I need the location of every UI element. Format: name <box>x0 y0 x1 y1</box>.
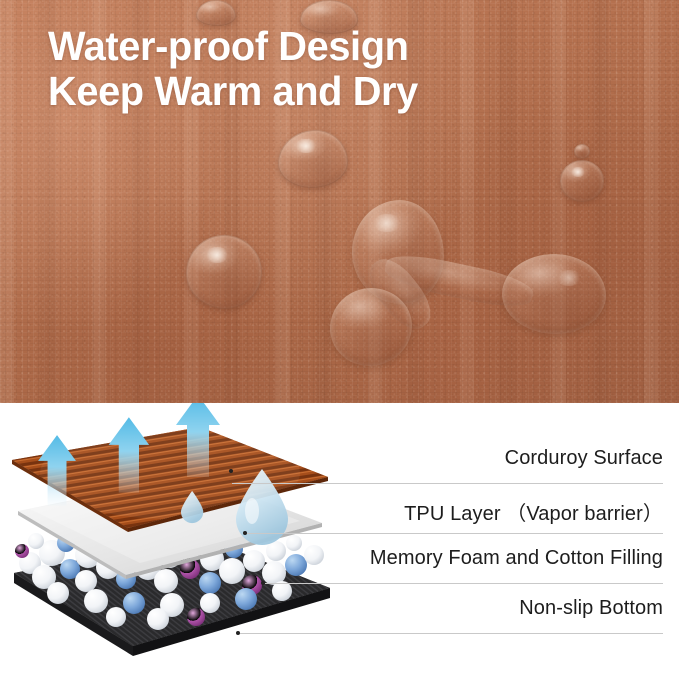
layer-label-foam: Memory Foam and Cotton Filling <box>370 547 663 573</box>
leader-dot-tpu <box>243 531 247 535</box>
layer-label-tpu: TPU Layer （Vapor barrier） <box>404 497 663 529</box>
layer-label-text: Non-slip Bottom <box>519 597 663 623</box>
leader-dot-foam <box>261 581 265 585</box>
layer-label-text: TPU Layer （Vapor barrier） <box>404 497 663 529</box>
leader-line-foam <box>265 583 663 584</box>
hero-photo-waterproof-fabric: Water-proof Design Keep Warm and Dry <box>0 0 679 403</box>
leader-line-bottom <box>240 633 663 634</box>
leader-dot-bottom <box>236 631 240 635</box>
product-infographic: Water-proof Design Keep Warm and Dry <box>0 0 679 678</box>
layer-label-text: Memory Foam and Cotton Filling <box>370 547 663 573</box>
headline-line-2: Keep Warm and Dry <box>48 69 591 114</box>
page-title: Water-proof Design Keep Warm and Dry <box>48 24 591 114</box>
layer-label-bottom: Non-slip Bottom <box>519 597 663 623</box>
merged-water-droplet <box>330 196 620 368</box>
leader-line-corduroy <box>232 483 663 484</box>
headline-line-1: Water-proof Design <box>48 24 591 69</box>
leader-dot-corduroy <box>229 469 233 473</box>
leader-line-tpu <box>247 533 663 534</box>
layer-label-corduroy: Corduroy Surface <box>505 447 663 473</box>
layer-construction-diagram: Corduroy Surface TPU Layer （Vapor barrie… <box>0 403 679 678</box>
exploded-layer-illustration <box>0 403 340 678</box>
layer-label-text: Corduroy Surface <box>505 447 663 473</box>
